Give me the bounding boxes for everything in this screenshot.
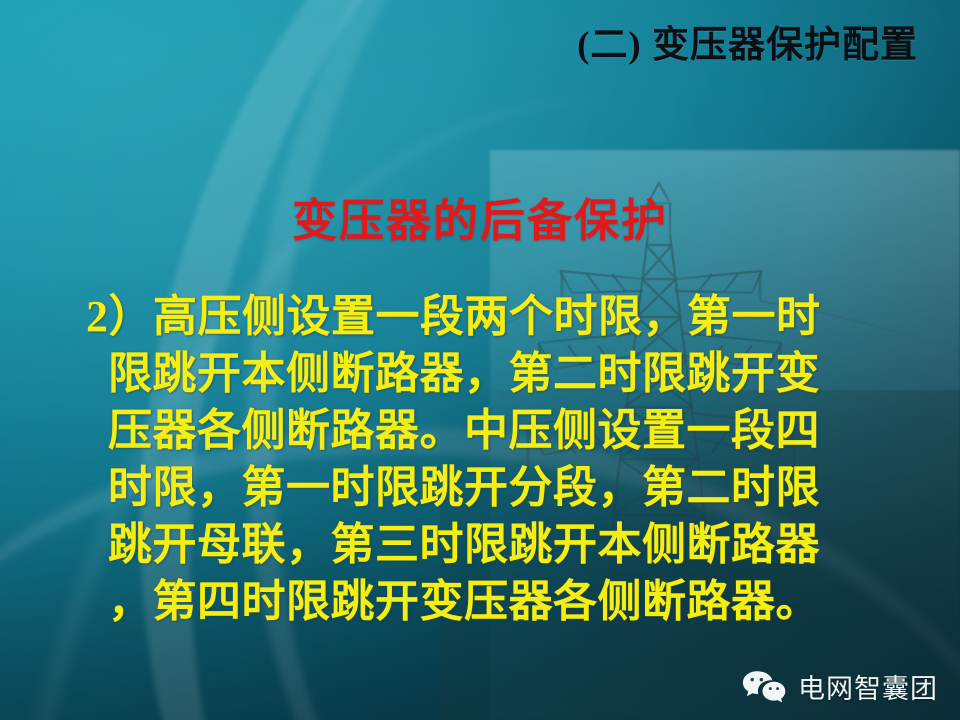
body-line: 时限，第一时限跳开分段，第二时限 [86,459,886,516]
watermark: 电网智囊团 [741,667,938,706]
body-line: 限跳开本侧断路器，第二时限跳开变 [86,345,886,402]
body-line: 2）高压侧设置一段两个时限，第一时 [86,288,886,345]
body-line: 压器各侧断路器。中压侧设置一段四 [86,402,886,459]
page-title: (二) 变压器保护配置 [577,14,918,68]
body-line: 跳开母联，第三时限跳开本侧断路器 [86,516,886,573]
watermark-label: 电网智囊团 [798,667,938,706]
wechat-icon [741,669,787,705]
slide-canvas: (二) 变压器保护配置 变压器的后备保护 2）高压侧设置一段两个时限，第一时 限… [0,0,960,720]
body-text-block: 2）高压侧设置一段两个时限，第一时 限跳开本侧断路器，第二时限跳开变 压器各侧断… [86,288,886,630]
body-line: ，第四时限跳开变压器各侧断路器。 [86,573,886,630]
section-heading: 变压器的后备保护 [0,184,960,249]
